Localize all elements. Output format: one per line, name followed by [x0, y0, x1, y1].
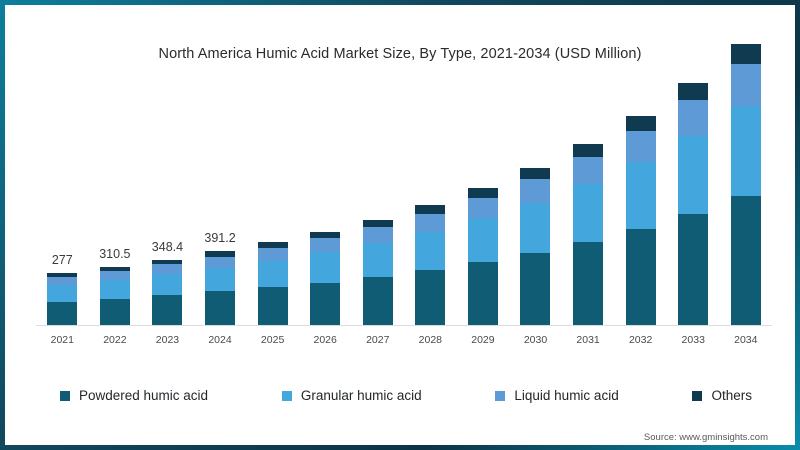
bar-segment[interactable] — [415, 214, 445, 232]
bar-column[interactable] — [509, 70, 562, 326]
bar-stack[interactable] — [573, 144, 603, 326]
bar-column[interactable] — [299, 70, 352, 326]
bar-segment[interactable] — [573, 184, 603, 242]
bar-segment[interactable] — [100, 280, 130, 299]
bar-column[interactable] — [667, 70, 720, 326]
legend-item[interactable]: Granular humic acid — [282, 388, 422, 403]
bar-segment[interactable] — [731, 196, 761, 326]
bar-segment[interactable] — [520, 179, 550, 202]
bar-segment[interactable] — [310, 283, 340, 326]
x-axis-tick: 2022 — [89, 334, 142, 346]
bar-stack[interactable] — [468, 188, 498, 326]
bar-segment[interactable] — [626, 131, 656, 162]
bar-segment[interactable] — [626, 229, 656, 326]
bar-segment[interactable] — [678, 100, 708, 136]
bar-stack[interactable] — [47, 273, 77, 326]
legend-label: Others — [711, 388, 752, 403]
x-axis-tick: 2028 — [404, 334, 457, 346]
x-axis-tick: 2024 — [194, 334, 247, 346]
bar-segment[interactable] — [363, 277, 393, 326]
bar-stack[interactable] — [152, 260, 182, 326]
bar-segment[interactable] — [47, 302, 77, 326]
bar-segment[interactable] — [47, 277, 77, 285]
bar-segment[interactable] — [626, 162, 656, 229]
bar-segment[interactable] — [520, 203, 550, 253]
bar-segment[interactable] — [310, 252, 340, 282]
bar-column[interactable] — [351, 70, 404, 326]
legend-swatch-icon — [282, 391, 292, 401]
bar-column[interactable]: 391.2 — [194, 70, 247, 326]
bar-segment[interactable] — [363, 227, 393, 243]
bar-segment[interactable] — [468, 262, 498, 326]
bar-segment[interactable] — [363, 220, 393, 227]
bar-column[interactable] — [562, 70, 615, 326]
bar-value-label: 310.5 — [99, 247, 130, 261]
bar-stack[interactable] — [626, 116, 656, 326]
bar-column[interactable] — [404, 70, 457, 326]
bar-segment[interactable] — [100, 271, 130, 280]
bar-column[interactable] — [614, 70, 667, 326]
bar-segment[interactable] — [205, 268, 235, 292]
bar-segment[interactable] — [731, 64, 761, 106]
bar-segment[interactable] — [468, 198, 498, 219]
source-note: Source: www.gminsights.com — [644, 432, 768, 442]
chart-legend: Powdered humic acidGranular humic acidLi… — [60, 388, 752, 403]
bar-stack[interactable] — [310, 232, 340, 326]
x-axis-tick: 2033 — [667, 334, 720, 346]
legend-item[interactable]: Others — [692, 388, 752, 403]
bar-value-label: 391.2 — [204, 231, 235, 245]
bar-segment[interactable] — [573, 242, 603, 326]
bar-column[interactable] — [457, 70, 510, 326]
x-axis-tick: 2030 — [509, 334, 562, 346]
legend-swatch-icon — [60, 391, 70, 401]
bar-segment[interactable] — [731, 44, 761, 64]
x-axis-tick: 2021 — [36, 334, 89, 346]
chart-frame: North America Humic Acid Market Size, By… — [0, 0, 800, 450]
x-axis-tick: 2031 — [562, 334, 615, 346]
bar-stack[interactable] — [100, 267, 130, 326]
bar-stack[interactable] — [363, 220, 393, 326]
bar-segment[interactable] — [415, 232, 445, 271]
bar-column[interactable]: 277 — [36, 70, 89, 326]
bar-segment[interactable] — [626, 116, 656, 131]
bar-segment[interactable] — [205, 291, 235, 326]
bar-column[interactable] — [246, 70, 299, 326]
bar-group: 277310.5348.4391.2 — [36, 70, 772, 326]
bar-segment[interactable] — [310, 238, 340, 252]
bar-column[interactable]: 310.5 — [89, 70, 142, 326]
bar-column[interactable] — [720, 70, 773, 326]
bar-segment[interactable] — [678, 83, 708, 100]
bar-value-label: 277 — [52, 253, 73, 267]
x-axis-tick: 2029 — [457, 334, 510, 346]
x-axis-tick: 2034 — [720, 334, 773, 346]
x-axis-labels: 2021202220232024202520262027202820292030… — [36, 334, 772, 346]
plot-area: 277310.5348.4391.2 — [36, 70, 772, 326]
bar-segment[interactable] — [415, 270, 445, 326]
bar-segment[interactable] — [152, 264, 182, 274]
bar-segment[interactable] — [468, 218, 498, 262]
legend-item[interactable]: Powdered humic acid — [60, 388, 208, 403]
bar-segment[interactable] — [363, 243, 393, 277]
chart-canvas: North America Humic Acid Market Size, By… — [8, 8, 792, 442]
bar-segment[interactable] — [258, 261, 288, 288]
bar-stack[interactable] — [205, 251, 235, 326]
x-axis-tick: 2025 — [246, 334, 299, 346]
axis-baseline — [36, 325, 772, 326]
legend-swatch-icon — [692, 391, 702, 401]
x-axis-tick: 2026 — [299, 334, 352, 346]
legend-item[interactable]: Liquid humic acid — [495, 388, 618, 403]
bar-segment[interactable] — [205, 257, 235, 268]
bar-segment[interactable] — [520, 168, 550, 179]
bar-segment[interactable] — [258, 287, 288, 326]
x-axis-tick: 2023 — [141, 334, 194, 346]
bar-segment[interactable] — [152, 274, 182, 295]
bar-segment[interactable] — [152, 295, 182, 326]
bar-stack[interactable] — [678, 83, 708, 326]
bar-stack[interactable] — [258, 242, 288, 326]
bar-segment[interactable] — [731, 106, 761, 196]
bar-stack[interactable] — [731, 44, 761, 326]
legend-label: Granular humic acid — [301, 388, 422, 403]
bar-segment[interactable] — [415, 205, 445, 213]
bar-segment[interactable] — [573, 144, 603, 157]
bar-stack[interactable] — [415, 205, 445, 326]
bar-segment[interactable] — [100, 299, 130, 326]
x-axis-tick: 2027 — [351, 334, 404, 346]
bar-column[interactable]: 348.4 — [141, 70, 194, 326]
bar-segment[interactable] — [678, 136, 708, 213]
bar-segment[interactable] — [520, 253, 550, 326]
bar-segment[interactable] — [468, 188, 498, 198]
page-title: North America Humic Acid Market Size, By… — [8, 46, 792, 62]
bar-segment[interactable] — [678, 214, 708, 326]
legend-label: Liquid humic acid — [514, 388, 618, 403]
bar-stack[interactable] — [520, 168, 550, 326]
bar-segment[interactable] — [258, 248, 288, 260]
bar-value-label: 348.4 — [152, 240, 183, 254]
legend-label: Powdered humic acid — [79, 388, 208, 403]
bar-segment[interactable] — [573, 157, 603, 184]
x-axis-tick: 2032 — [614, 334, 667, 346]
bar-segment[interactable] — [47, 285, 77, 302]
legend-swatch-icon — [495, 391, 505, 401]
